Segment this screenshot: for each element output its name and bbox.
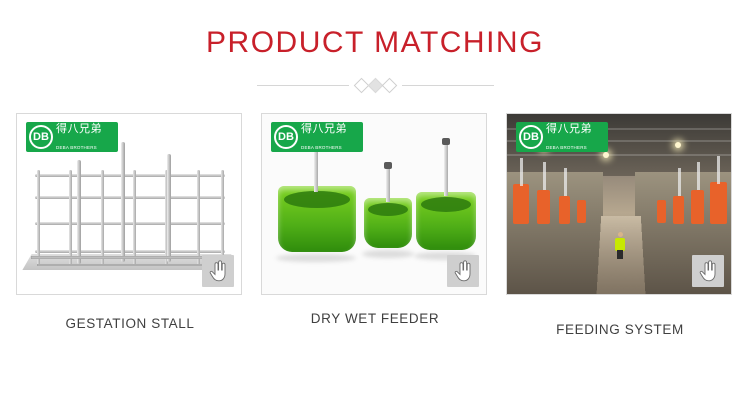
feed-dispenser [559, 196, 570, 224]
hand-pointer-icon[interactable] [692, 255, 724, 287]
divider-diamonds [356, 80, 395, 91]
feeder-bowl [364, 198, 412, 248]
diamond-icon [381, 77, 397, 93]
feeder-bowl [416, 192, 476, 250]
feed-dispenser [513, 184, 529, 224]
logo-mark-icon: DB [274, 125, 298, 149]
feeder-pipe-cap [442, 138, 450, 145]
logo-text-en: DEBA BROTHERS [56, 145, 97, 150]
logo-mark-icon: DB [519, 125, 543, 149]
page-title: PRODUCT MATCHING [0, 0, 750, 60]
product-matching-page: PRODUCT MATCHING [0, 0, 750, 411]
logo-text-cn: 得八兄弟 [546, 122, 592, 135]
product-card-list: DB 得八兄弟 DEBA BROTHERS GESTATION STALL [0, 113, 750, 337]
worker-figure [615, 232, 625, 258]
divider-line-right [402, 85, 494, 86]
product-card-dry-wet-feeder[interactable]: DB 得八兄弟 DEBA BROTHERS DRY WET FEEDER [261, 113, 489, 337]
logo-text: 得八兄弟 DEBA BROTHERS [546, 120, 592, 154]
card-caption: GESTATION STALL [16, 316, 244, 331]
stall-bar [37, 264, 221, 266]
logo-text-en: DEBA BROTHERS [301, 145, 342, 150]
stall-bar [31, 256, 227, 259]
product-card-feeding-system[interactable]: DB 得八兄弟 DEBA BROTHERS FEEDING SYSTEM [506, 113, 734, 337]
product-card-gestation-stall[interactable]: DB 得八兄弟 DEBA BROTHERS GESTATION STALL [16, 113, 244, 337]
logo-text: 得八兄弟 DEBA BROTHERS [301, 120, 347, 154]
feed-dispenser [691, 190, 704, 224]
logo-text-en: DEBA BROTHERS [546, 145, 587, 150]
stall-post [77, 160, 81, 264]
stall-rails [35, 170, 225, 266]
feed-dispenser [710, 182, 727, 224]
feed-dispenser [537, 190, 550, 224]
stall-post [121, 142, 125, 262]
logo-text: 得八兄弟 DEBA BROTHERS [56, 120, 102, 154]
stall-post [167, 154, 171, 262]
feeder-pipe [444, 144, 448, 196]
card-caption: DRY WET FEEDER [261, 311, 489, 326]
feed-dispenser [577, 200, 586, 223]
feed-dispenser [657, 200, 666, 223]
feed-dispenser [673, 196, 684, 224]
hand-pointer-icon[interactable] [202, 255, 234, 287]
gestation-stall-photo[interactable]: DB 得八兄弟 DEBA BROTHERS [16, 113, 242, 295]
feeder-pipe [314, 148, 318, 192]
feeding-system-photo[interactable]: DB 得八兄弟 DEBA BROTHERS [506, 113, 732, 295]
brand-logo: DB 得八兄弟 DEBA BROTHERS [271, 122, 363, 152]
brand-logo: DB 得八兄弟 DEBA BROTHERS [516, 122, 608, 152]
hand-pointer-icon[interactable] [447, 255, 479, 287]
brand-logo: DB 得八兄弟 DEBA BROTHERS [26, 122, 118, 152]
feeder-pipe [386, 168, 390, 202]
diamond-divider [0, 76, 750, 94]
card-caption: FEEDING SYSTEM [506, 322, 734, 337]
feeder-bowl [278, 186, 356, 252]
dry-wet-feeder-photo[interactable]: DB 得八兄弟 DEBA BROTHERS [261, 113, 487, 295]
logo-text-cn: 得八兄弟 [301, 122, 347, 135]
logo-mark-icon: DB [29, 125, 53, 149]
logo-text-cn: 得八兄弟 [56, 122, 102, 135]
feeder-pipe-cap [384, 162, 392, 169]
divider-line-left [257, 85, 349, 86]
